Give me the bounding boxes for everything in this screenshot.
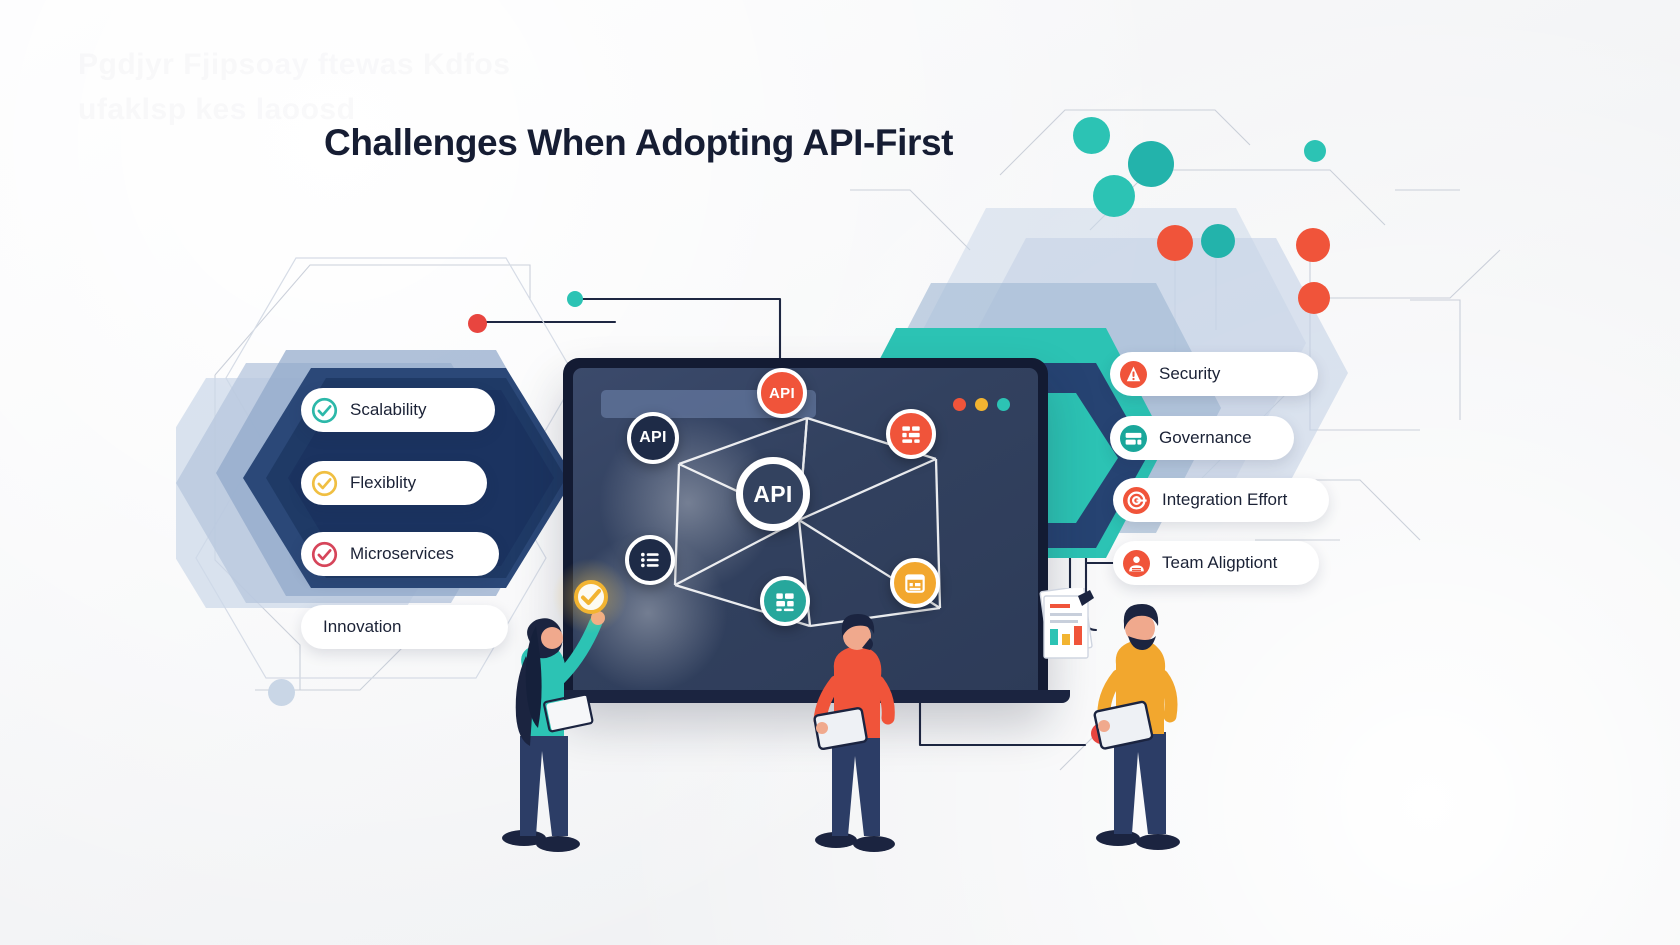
left-item-label: Scalability <box>350 400 427 420</box>
right-item-governance[interactable]: Governance <box>1110 416 1294 460</box>
decor-dot-2 <box>1093 175 1135 217</box>
integration-icon <box>1123 487 1150 514</box>
infographic-canvas: Pgdjyr Fjipsoay ftewas Kdfos ufaklsp kes… <box>0 0 1680 945</box>
left-item-microservices[interactable]: Microservices <box>301 532 499 576</box>
decor-dot-8 <box>468 314 487 333</box>
right-item-security[interactable]: Security <box>1110 352 1318 396</box>
right-item-label: Integration Effort <box>1162 490 1287 510</box>
security-alert-icon <box>1120 361 1147 388</box>
decor-dot-3 <box>1157 225 1193 261</box>
decor-dot-4 <box>1201 224 1235 258</box>
left-item-label: Innovation <box>323 617 401 637</box>
node-api-left[interactable]: API <box>627 412 679 464</box>
left-item-flexiblity[interactable]: Flexiblity <box>301 461 487 505</box>
node-api-center[interactable]: API <box>736 457 810 531</box>
man-with-tablet <box>800 588 915 856</box>
left-item-label: Flexiblity <box>350 473 416 493</box>
decor-dot-7 <box>1304 140 1326 162</box>
decor-dot-11 <box>268 679 295 706</box>
page-title: Challenges When Adopting API-First <box>324 122 953 164</box>
left-item-label: Microservices <box>350 544 454 564</box>
decor-dot-6 <box>1298 282 1330 314</box>
right-item-label: Governance <box>1159 428 1252 448</box>
server-icon <box>898 421 924 447</box>
right-item-label: Team Aligptiont <box>1162 553 1277 573</box>
node-server-right[interactable] <box>886 409 936 459</box>
grid-icon <box>772 588 798 614</box>
check-circle-icon <box>311 470 338 497</box>
node-list-bottom-left[interactable] <box>625 535 675 585</box>
node-label: API <box>639 429 667 447</box>
left-item-innovation[interactable]: Innovation <box>301 605 508 649</box>
check-circle-icon <box>311 541 338 568</box>
check-circle-icon <box>311 397 338 424</box>
right-item-label: Security <box>1159 364 1220 384</box>
decor-dot-1 <box>1128 141 1174 187</box>
right-item-integration-effort[interactable]: Integration Effort <box>1113 478 1329 522</box>
node-api-top[interactable]: API <box>757 368 807 418</box>
check-circle-badge-icon <box>572 578 610 616</box>
governance-icon <box>1120 425 1147 452</box>
list-icon <box>637 547 663 573</box>
node-label: API <box>753 481 792 508</box>
decor-dot-0 <box>1073 117 1110 154</box>
node-label: API <box>769 385 795 402</box>
decor-dot-9 <box>567 291 583 307</box>
right-item-team-aligptiont[interactable]: Team Aligptiont <box>1113 541 1319 585</box>
left-item-scalability[interactable]: Scalability <box>301 388 495 432</box>
report-document-icon <box>1034 588 1098 666</box>
team-icon <box>1123 550 1150 577</box>
decor-dot-5 <box>1296 228 1330 262</box>
